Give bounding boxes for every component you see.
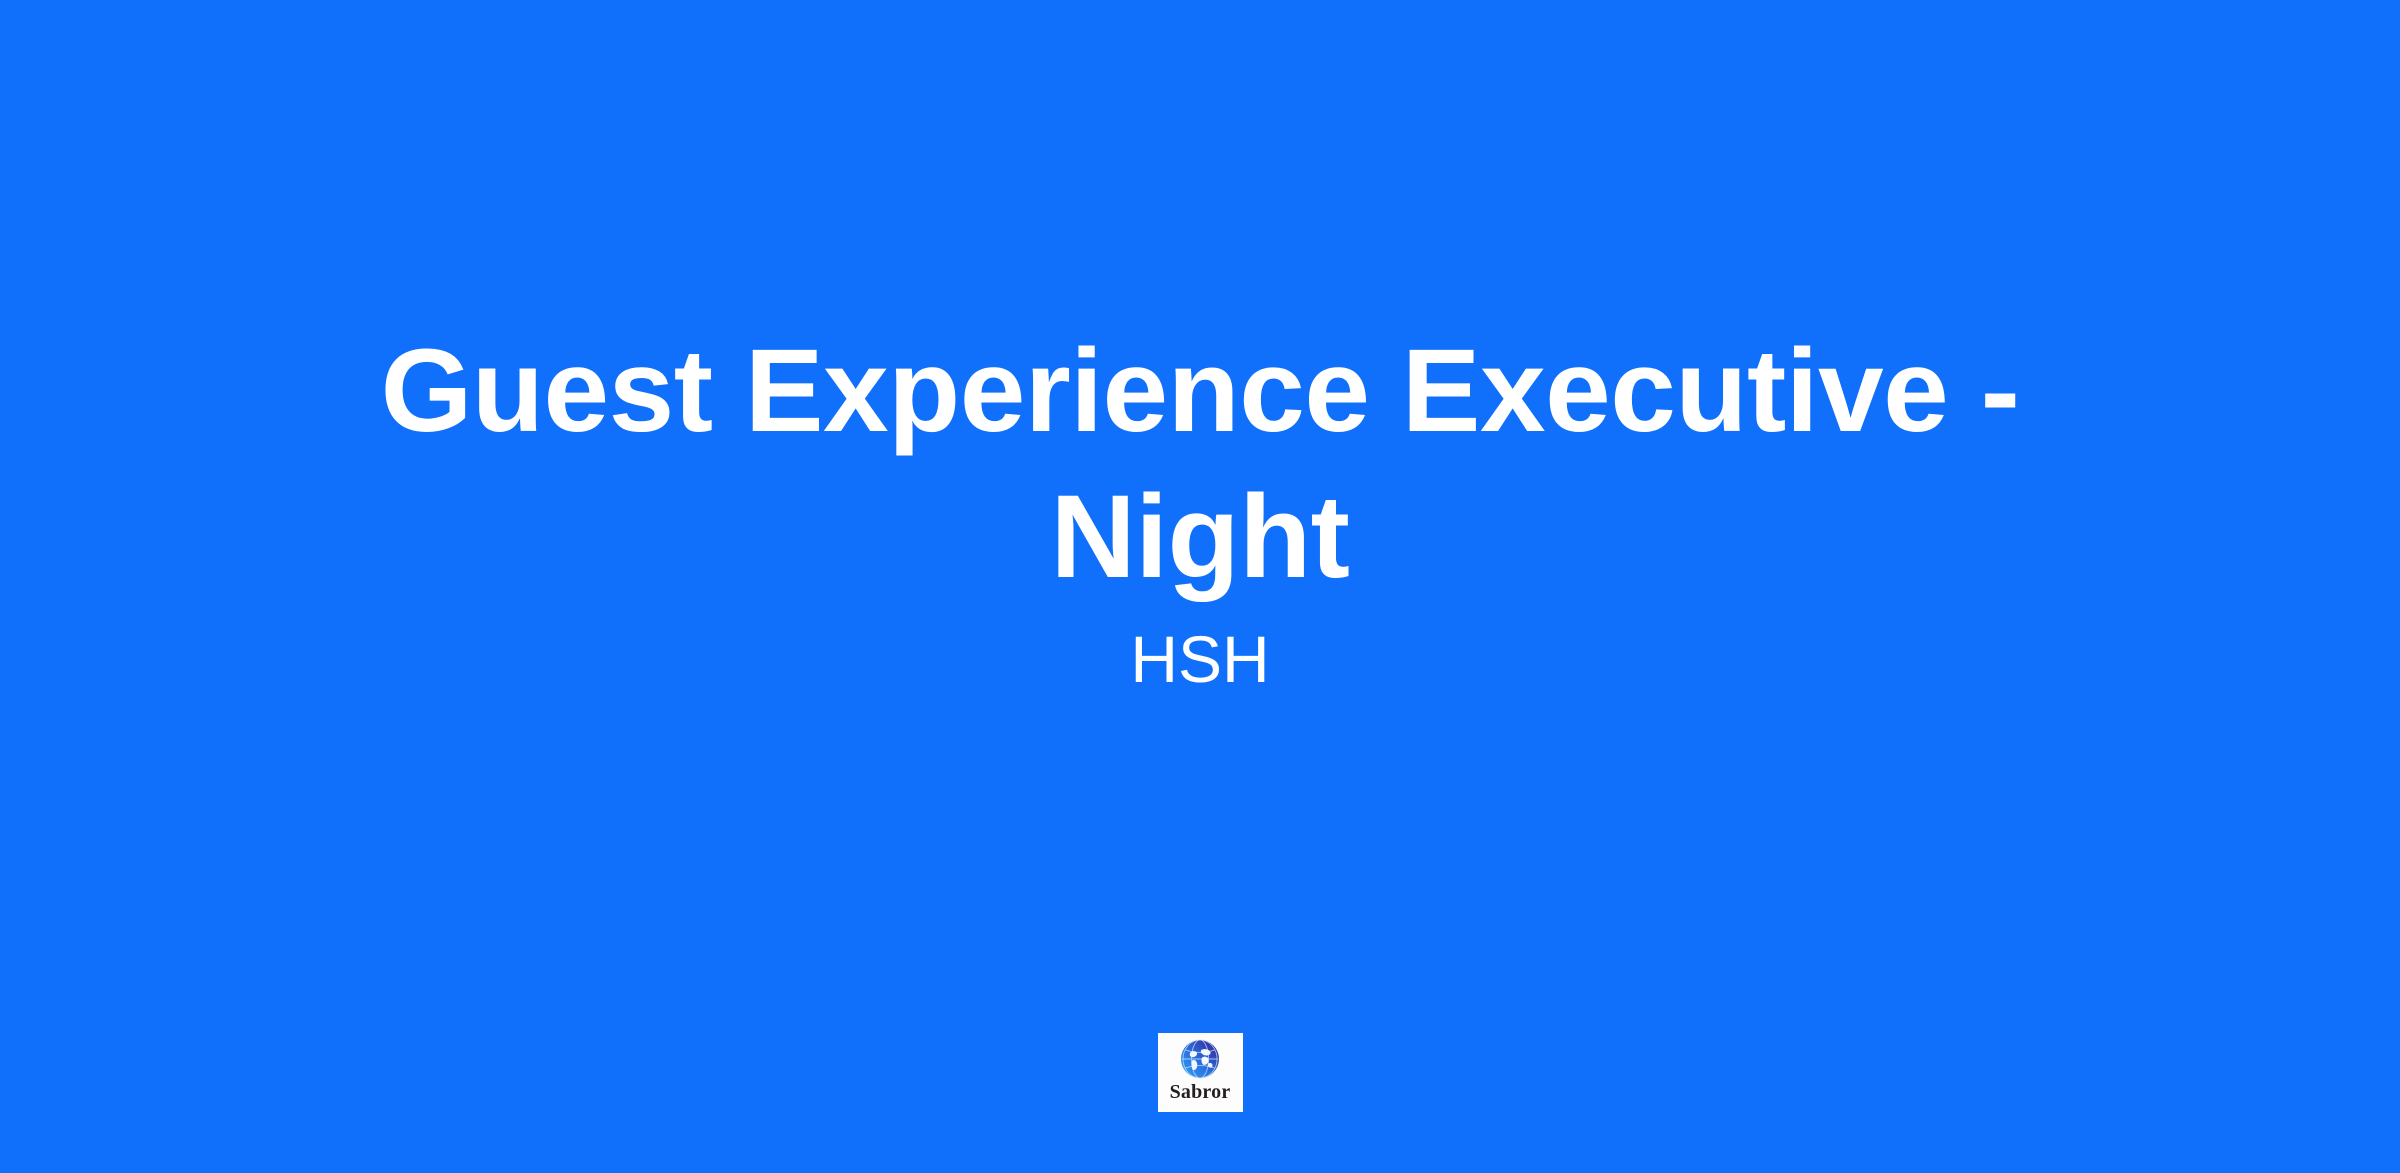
- company-name: HSH: [1130, 620, 1269, 698]
- company-logo[interactable]: Sabror: [1158, 1033, 1243, 1112]
- splash-page: Guest Experience Executive - Night HSH: [0, 0, 2400, 1173]
- hero-section: Guest Experience Executive - Night HSH: [0, 318, 2400, 698]
- logo-wordmark: Sabror: [1170, 1081, 1231, 1103]
- logo-container: Sabror: [0, 1033, 2400, 1112]
- page-title: Guest Experience Executive - Night: [350, 318, 2050, 610]
- globe-icon: [1179, 1038, 1221, 1080]
